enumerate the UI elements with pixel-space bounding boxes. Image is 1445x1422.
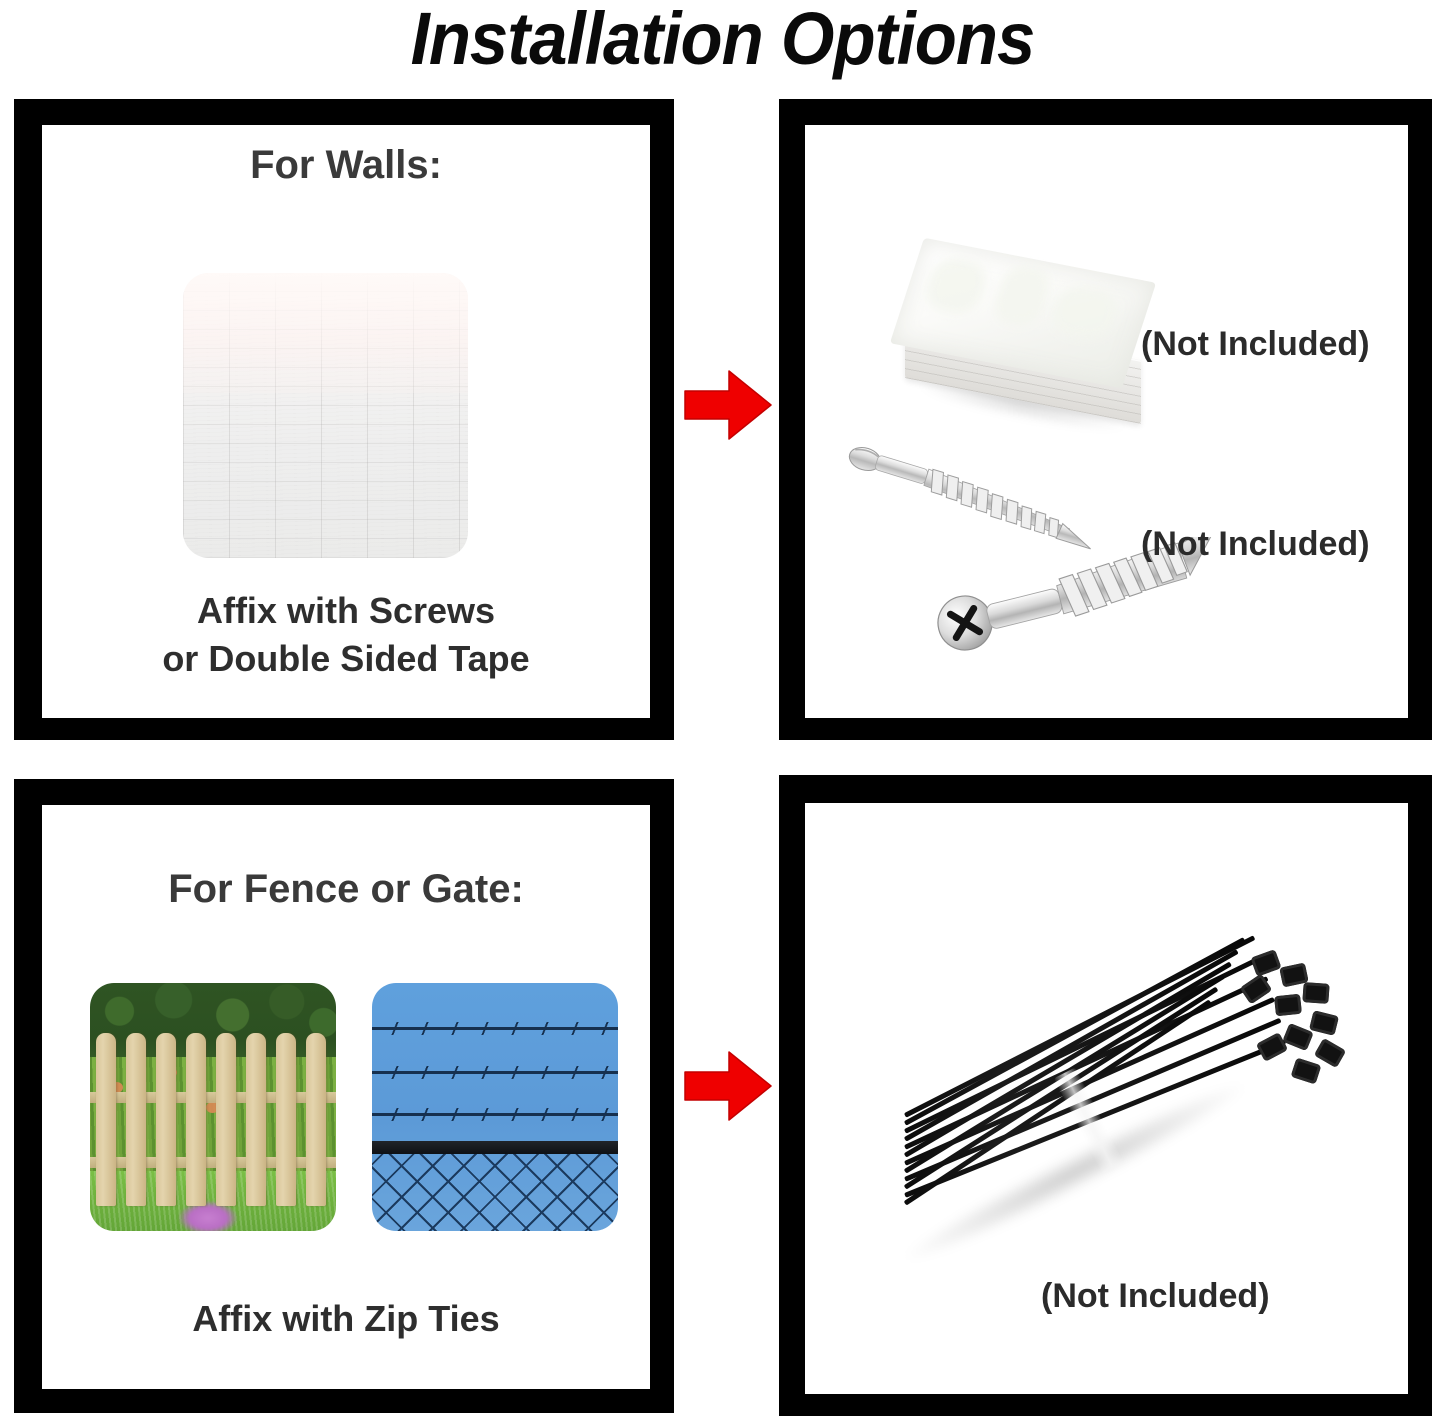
chain-link-mesh <box>372 1154 618 1231</box>
tape-not-included-label: (Not Included) <box>1141 325 1370 364</box>
page-title: Installation Options <box>51 0 1395 80</box>
panel-for-fence-or-gate: For Fence or Gate: <box>14 779 674 1413</box>
zip-tie-bundle-image <box>845 917 1375 1307</box>
for-fence-caption: Affix with Zip Ties <box>42 1295 650 1343</box>
chain-link-fence-image <box>372 983 618 1231</box>
panel-for-fence-content: For Fence or Gate: <box>42 805 650 1389</box>
barbed-wire-strand <box>372 1071 618 1074</box>
panel-for-walls: For Walls: Affix with Screws or Double S… <box>14 99 674 740</box>
double-sided-tape-image <box>897 253 1165 431</box>
screws-not-included-label: (Not Included) <box>1141 525 1370 564</box>
wall-highlight <box>183 273 468 393</box>
fence-top-rail <box>372 1141 618 1154</box>
for-walls-heading: For Walls: <box>42 143 650 188</box>
arrow-right-icon-bottom <box>683 1048 773 1124</box>
arrow-right-icon-top <box>683 367 773 443</box>
for-walls-caption-line1: Affix with Screws <box>42 587 650 635</box>
wooden-picket-fence-image <box>90 983 336 1231</box>
panel-wall-hardware: (Not Included) <box>779 99 1432 740</box>
zipties-not-included-label: (Not Included) <box>1041 1277 1270 1316</box>
for-walls-caption-line2: or Double Sided Tape <box>42 635 650 683</box>
panel-for-walls-content: For Walls: Affix with Screws or Double S… <box>42 125 650 718</box>
barbed-wire-strand <box>372 1113 618 1116</box>
panel-fence-hardware-content: (Not Included) <box>805 803 1408 1394</box>
panel-fence-hardware: (Not Included) <box>779 775 1432 1416</box>
panel-wall-hardware-content: (Not Included) <box>805 125 1408 718</box>
for-fence-heading: For Fence or Gate: <box>42 867 650 912</box>
white-brick-wall-image <box>183 273 468 558</box>
barbed-wire-strand <box>372 1027 618 1030</box>
